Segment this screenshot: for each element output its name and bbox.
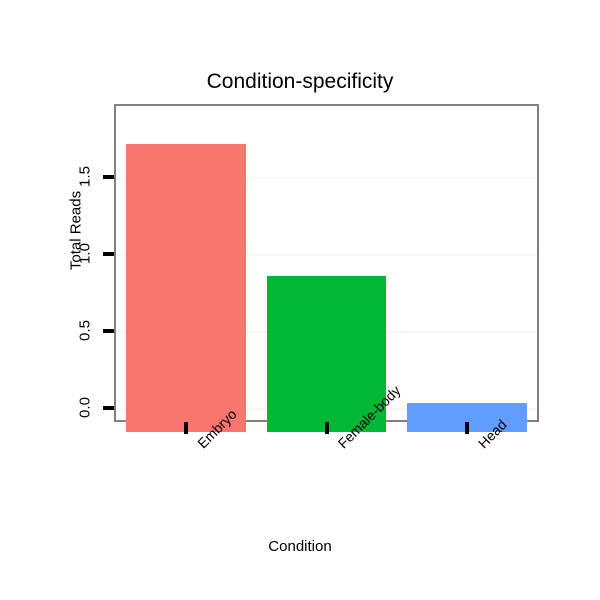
bar[interactable] bbox=[126, 144, 246, 432]
x-tick-mark bbox=[465, 422, 469, 434]
x-axis-title: Condition bbox=[0, 538, 600, 555]
y-axis-title: Total Reads bbox=[68, 181, 85, 281]
y-tick-mark bbox=[103, 252, 114, 256]
plot-area bbox=[116, 106, 537, 420]
y-tick-label: 0.5 bbox=[77, 311, 94, 351]
y-tick-mark bbox=[103, 329, 114, 333]
chart-title: Condition-specificity bbox=[0, 70, 600, 94]
y-tick-mark bbox=[103, 406, 114, 410]
plot-panel bbox=[114, 104, 539, 422]
x-tick-mark bbox=[184, 422, 188, 434]
chart-canvas: Condition-specificity 0.00.51.01.5 Total… bbox=[0, 0, 600, 600]
y-tick-label: 0.0 bbox=[77, 388, 94, 428]
x-tick-mark bbox=[325, 422, 329, 434]
y-tick-mark bbox=[103, 175, 114, 179]
